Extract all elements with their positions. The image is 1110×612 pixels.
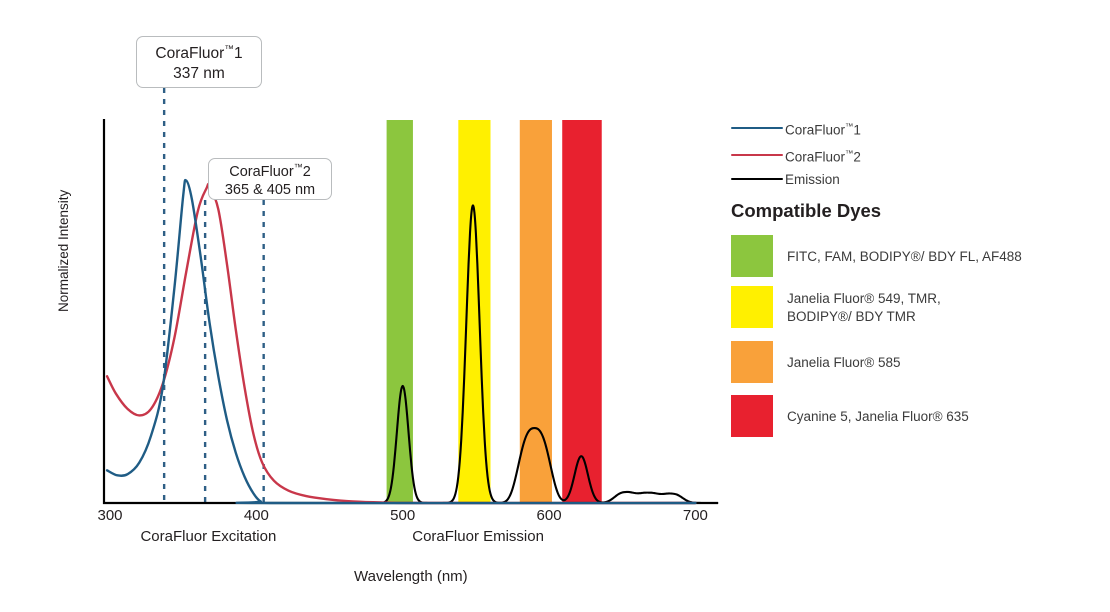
- compatible-dyes-title: Compatible Dyes: [731, 200, 881, 222]
- region-label-excitation: CoraFluor Excitation: [140, 528, 276, 545]
- callout-one-line1: CoraFluor™1: [137, 44, 261, 64]
- x-tick-300: 300: [80, 507, 140, 524]
- dye-label-line: Janelia Fluor® 585: [787, 354, 901, 372]
- dye-swatch-2: [731, 286, 773, 328]
- x-tick-700: 700: [665, 507, 725, 524]
- callout-two-line1: CoraFluor™2: [209, 162, 331, 181]
- region-label-emission: CoraFluor Emission: [412, 528, 544, 545]
- chart-canvas: CoraFluor™1 337 nm CoraFluor™2 365 & 405…: [0, 0, 1110, 612]
- x-axis-title: Wavelength (nm): [354, 568, 468, 585]
- dye-label-line: BODIPY®/ BDY TMR: [787, 308, 941, 326]
- emission-curve: [110, 205, 717, 503]
- dye-label-line: FITC, FAM, BODIPY®/ BDY FL, AF488: [787, 248, 1022, 266]
- red-band: [562, 120, 602, 503]
- legend-label-3: Emission: [785, 172, 840, 187]
- legend-label-2: CoraFluor™2: [785, 148, 861, 165]
- x-tick-600: 600: [519, 507, 579, 524]
- filter-bands-group: [387, 120, 602, 503]
- dye-label-line: Janelia Fluor® 549, TMR,: [787, 290, 941, 308]
- callout-two-line2: 365 & 405 nm: [209, 181, 331, 200]
- callout-coraFluor1: CoraFluor™1 337 nm: [136, 36, 262, 88]
- excitation-marker-lines: [164, 88, 264, 503]
- y-axis-title: Normalized Intensity: [56, 182, 71, 312]
- dye-swatch-4: [731, 395, 773, 437]
- callout-coraFluor2: CoraFluor™2 365 & 405 nm: [208, 158, 332, 200]
- legend-label-1: CoraFluor™1: [785, 121, 861, 138]
- dye-label-3: Janelia Fluor® 585: [787, 354, 901, 372]
- dye-swatch-1: [731, 235, 773, 277]
- orange-band: [520, 120, 552, 503]
- dye-label-4: Cyanine 5, Janelia Fluor® 635: [787, 408, 969, 426]
- dye-swatch-3: [731, 341, 773, 383]
- x-tick-500: 500: [373, 507, 433, 524]
- callout-one-line2: 337 nm: [137, 64, 261, 84]
- x-tick-400: 400: [226, 507, 286, 524]
- trademark-icon: ™: [294, 162, 303, 172]
- dye-label-2: Janelia Fluor® 549, TMR,BODIPY®/ BDY TMR: [787, 290, 941, 326]
- dye-label-line: Cyanine 5, Janelia Fluor® 635: [787, 408, 969, 426]
- trademark-icon: ™: [224, 44, 234, 55]
- dye-label-1: FITC, FAM, BODIPY®/ BDY FL, AF488: [787, 248, 1022, 266]
